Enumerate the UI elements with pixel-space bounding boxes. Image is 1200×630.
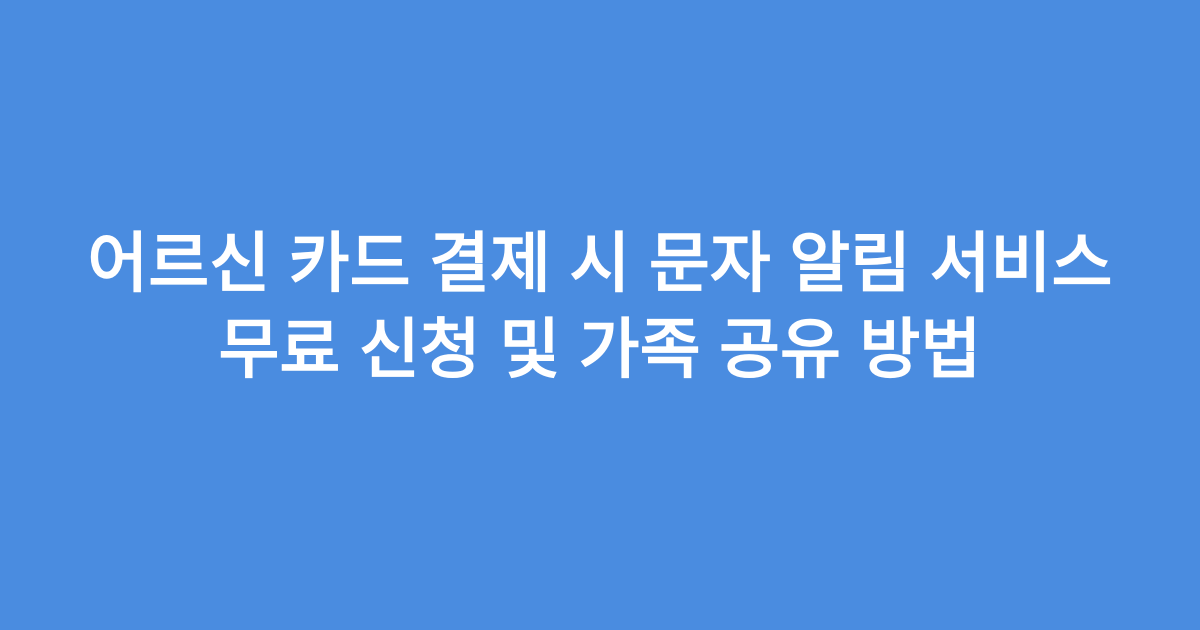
title-card: 어르신 카드 결제 시 문자 알림 서비스 무료 신청 및 가족 공유 방법 xyxy=(0,0,1200,630)
page-title-line-2: 무료 신청 및 가족 공유 방법 xyxy=(40,306,1160,392)
page-title-line-1: 어르신 카드 결제 시 문자 알림 서비스 xyxy=(40,220,1160,306)
page-title: 어르신 카드 결제 시 문자 알림 서비스 무료 신청 및 가족 공유 방법 xyxy=(40,220,1160,392)
